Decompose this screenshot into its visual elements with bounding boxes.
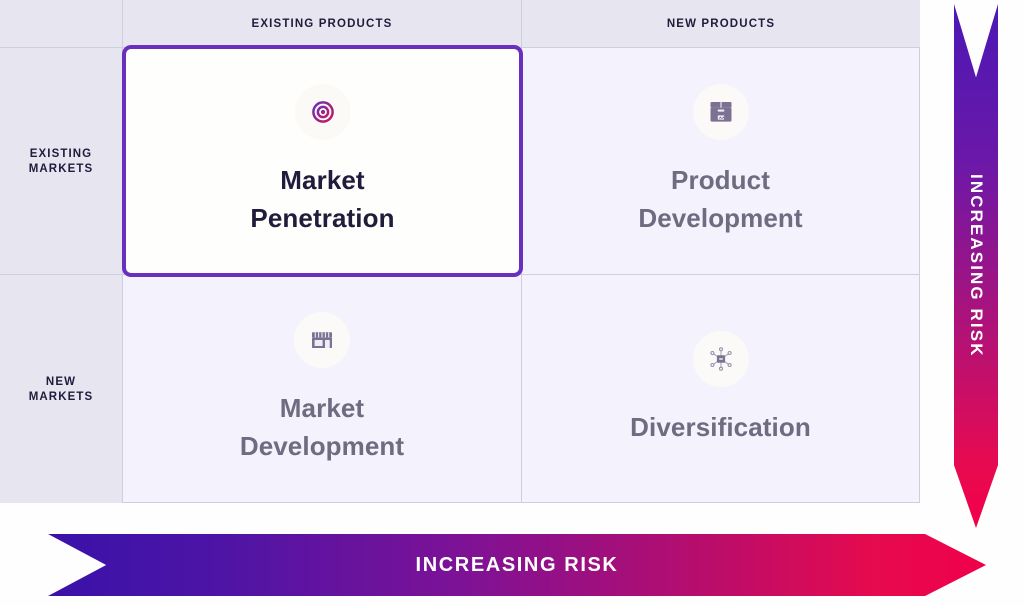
quadrant-title-line2: Development: [638, 200, 802, 238]
row-header-new-markets: NEW MARKETS: [0, 275, 123, 503]
quadrant-title-line2: Penetration: [250, 200, 394, 238]
quadrant-title-line1: Product: [638, 162, 802, 200]
column-header-label: EXISTING PRODUCTS: [252, 18, 393, 30]
horizontal-risk-arrow-shape: [48, 534, 986, 596]
vertical-risk-arrow: INCREASING RISK: [954, 4, 998, 528]
quadrant-market-penetration[interactable]: Market Penetration: [122, 45, 523, 277]
quadrant-title: Market Penetration: [250, 162, 394, 238]
row-header-label-line1: EXISTING: [30, 148, 92, 160]
row-header-label-line2: MARKETS: [29, 163, 94, 175]
matrix-corner-cell: [0, 0, 123, 48]
quadrant-market-development[interactable]: Market Development: [123, 275, 522, 503]
quadrant-title: Diversification: [630, 409, 811, 447]
quadrant-title: Market Development: [240, 390, 404, 466]
quadrant-title: Product Development: [638, 162, 802, 238]
quadrant-diversification[interactable]: Diversification: [522, 275, 920, 503]
package-box-icon: [693, 84, 749, 140]
quadrant-title-line1: Market: [250, 162, 394, 200]
network-hub-icon: [693, 331, 749, 387]
horizontal-risk-arrow: INCREASING RISK: [48, 534, 986, 596]
quadrant-product-development[interactable]: Product Development: [522, 48, 920, 275]
row-header-existing-markets: EXISTING MARKETS: [0, 48, 123, 275]
column-header-label: NEW PRODUCTS: [667, 18, 775, 30]
storefront-icon: [294, 312, 350, 368]
quadrant-title-line1: Diversification: [630, 409, 811, 447]
row-header-label-line2: MARKETS: [29, 391, 94, 403]
column-header-existing-products: EXISTING PRODUCTS: [123, 0, 522, 48]
quadrant-title-line1: Market: [240, 390, 404, 428]
ansoff-matrix-diagram: EXISTING PRODUCTS NEW PRODUCTS EXISTING …: [0, 0, 1024, 606]
vertical-risk-arrow-shape: [954, 4, 998, 528]
column-header-new-products: NEW PRODUCTS: [522, 0, 920, 48]
target-crosshair-icon: [295, 84, 351, 140]
quadrant-title-line2: Development: [240, 428, 404, 466]
row-header-label-line1: NEW: [46, 376, 76, 388]
